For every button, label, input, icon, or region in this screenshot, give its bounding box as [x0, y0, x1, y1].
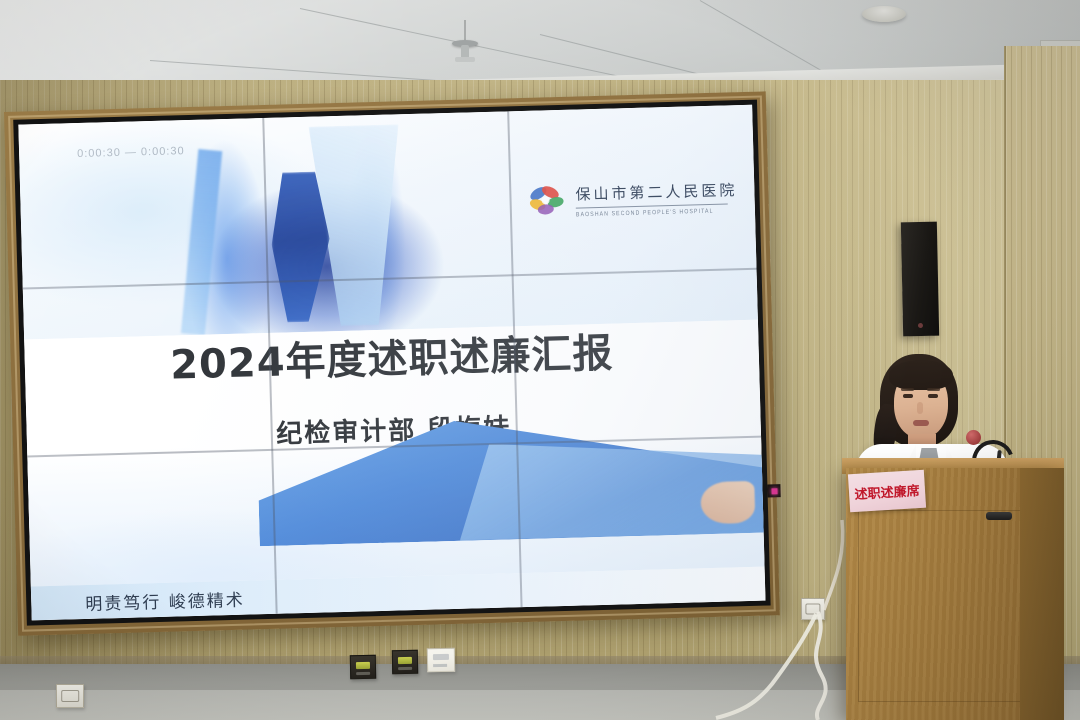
presenter-eyebrow-left [901, 388, 914, 391]
microphone-base [986, 512, 1012, 520]
hospital-petal-logo-icon [525, 182, 566, 221]
hospital-name-cn: 保山市第二人民医院 [575, 179, 738, 204]
podium-sign: 述职述廉席 [848, 470, 926, 513]
presentation-room-photo: 0:00:30 — 0:00:30 [0, 0, 1080, 720]
wall-mounted-speaker [901, 222, 939, 337]
video-wall-screen[interactable]: 0:00:30 — 0:00:30 [18, 105, 765, 621]
power-outlet-right[interactable] [801, 598, 825, 620]
smoke-detector-icon [862, 6, 906, 22]
slide-bottom-image [27, 432, 764, 587]
hand-shape [700, 481, 755, 524]
bezel-power-indicator [767, 484, 780, 497]
presenter-eyebrow-right [927, 388, 940, 391]
tie-stripe-shape [181, 149, 222, 335]
footer-slogan: 明责笃行 峻德精术 [85, 585, 245, 614]
presenter-mouth [913, 420, 929, 426]
timestamp-overlay: 0:00:30 — 0:00:30 [77, 145, 185, 160]
av-switch-dark-2[interactable] [392, 650, 418, 674]
podium-side-panel [1020, 468, 1064, 720]
microphone-head-icon [966, 430, 981, 445]
presenter-eye-left [903, 394, 913, 398]
hospital-name-block: 保山市第二人民医院 BAOSHAN SECOND PEOPLE'S HOSPIT… [575, 177, 738, 217]
video-wall-frame: 0:00:30 — 0:00:30 [4, 91, 780, 635]
video-wall-bezel: 0:00:30 — 0:00:30 [13, 100, 770, 626]
podium-sign-text: 述职述廉席 [854, 480, 920, 503]
slide-top-image: 0:00:30 — 0:00:30 [18, 105, 758, 340]
presenter-nose [917, 402, 923, 414]
presentation-slide: 0:00:30 — 0:00:30 [18, 105, 765, 621]
fire-sprinkler-stem [464, 20, 466, 42]
podium-front-panel [858, 510, 1034, 702]
presenter-eye-right [928, 394, 938, 398]
power-outlet-left[interactable] [56, 684, 84, 708]
av-plate-light[interactable] [427, 648, 455, 672]
fire-sprinkler-deflector [455, 57, 475, 62]
hospital-branding: 保山市第二人民医院 BAOSHAN SECOND PEOPLE'S HOSPIT… [525, 177, 738, 221]
av-switch-dark-1[interactable] [350, 655, 376, 679]
presenter-fringe [889, 360, 953, 390]
